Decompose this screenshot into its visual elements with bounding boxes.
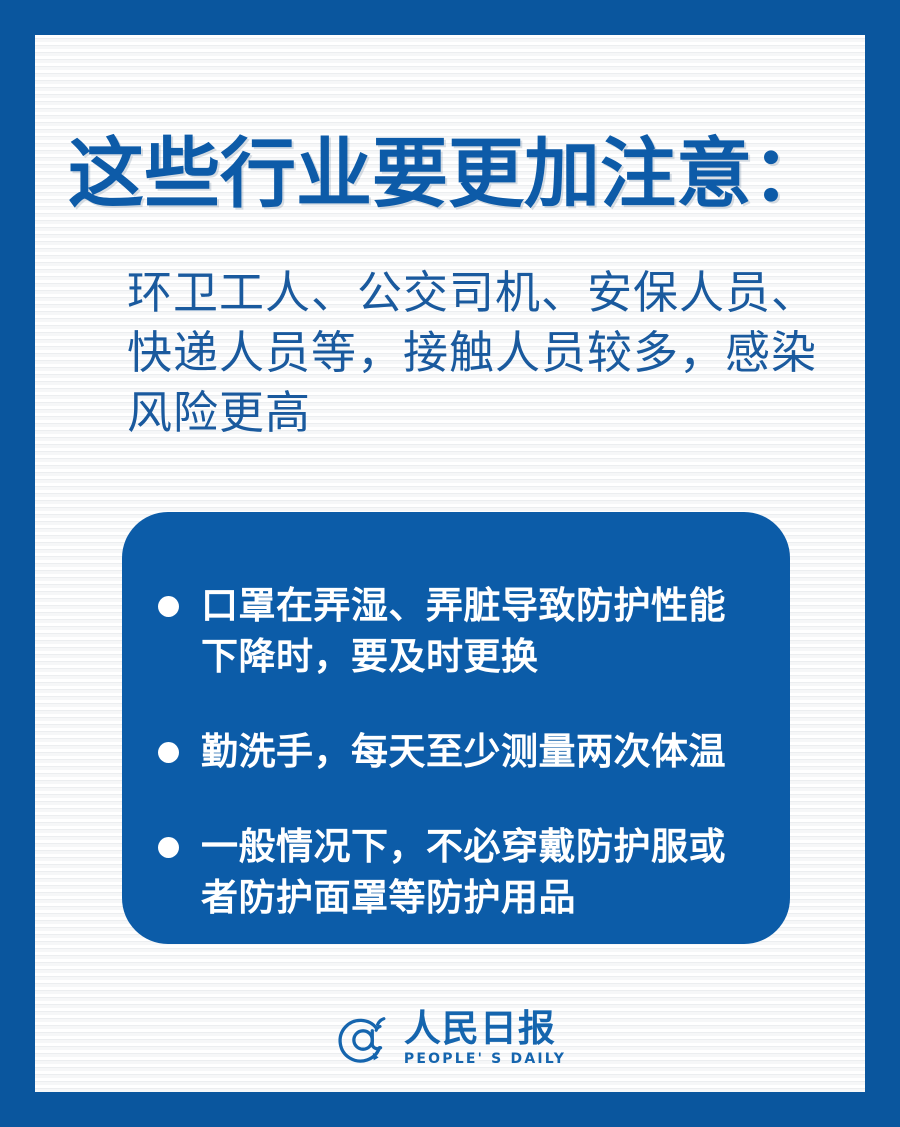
logo-english-name: PEOPLE' S DAILY (404, 1052, 566, 1066)
list-item-label: 勤洗手，每天至少测量两次体温 (201, 726, 760, 777)
publisher-logo: 人民日报 PEOPLE' S DAILY (35, 998, 865, 1078)
advice-card: 口罩在弄湿、弄脏导致防护性能下降时，要及时更换 勤洗手，每天至少测量两次体温 一… (122, 512, 790, 944)
logo-wordmark: 人民日报 PEOPLE' S DAILY (404, 1010, 566, 1066)
advice-list: 口罩在弄湿、弄脏导致防护性能下降时，要及时更换 勤洗手，每天至少测量两次体温 一… (156, 580, 760, 923)
poster-root: 这些行业要更加注意： 环卫工人、公交司机、安保人员、快递人员等，接触人员较多，感… (0, 0, 900, 1127)
bullet-dot-icon (158, 596, 179, 617)
list-item: 口罩在弄湿、弄脏导致防护性能下降时，要及时更换 (156, 580, 760, 682)
list-item: 勤洗手，每天至少测量两次体温 (156, 726, 760, 777)
striped-panel: 这些行业要更加注意： 环卫工人、公交司机、安保人员、快递人员等，接触人员较多，感… (35, 35, 865, 1092)
at-sign-wifi-icon (334, 1009, 396, 1071)
logo-chinese-name: 人民日报 (404, 1010, 556, 1047)
page-title: 这些行业要更加注意： (68, 135, 858, 213)
list-item-label: 一般情况下，不必穿戴防护服或者防护面罩等防护用品 (201, 821, 760, 923)
list-item: 一般情况下，不必穿戴防护服或者防护面罩等防护用品 (156, 821, 760, 923)
bullet-dot-icon (158, 837, 179, 858)
list-item-label: 口罩在弄湿、弄脏导致防护性能下降时，要及时更换 (201, 580, 760, 682)
subtitle-text: 环卫工人、公交司机、安保人员、快递人员等，接触人员较多，感染风险更高 (127, 263, 827, 443)
bullet-dot-icon (158, 742, 179, 763)
